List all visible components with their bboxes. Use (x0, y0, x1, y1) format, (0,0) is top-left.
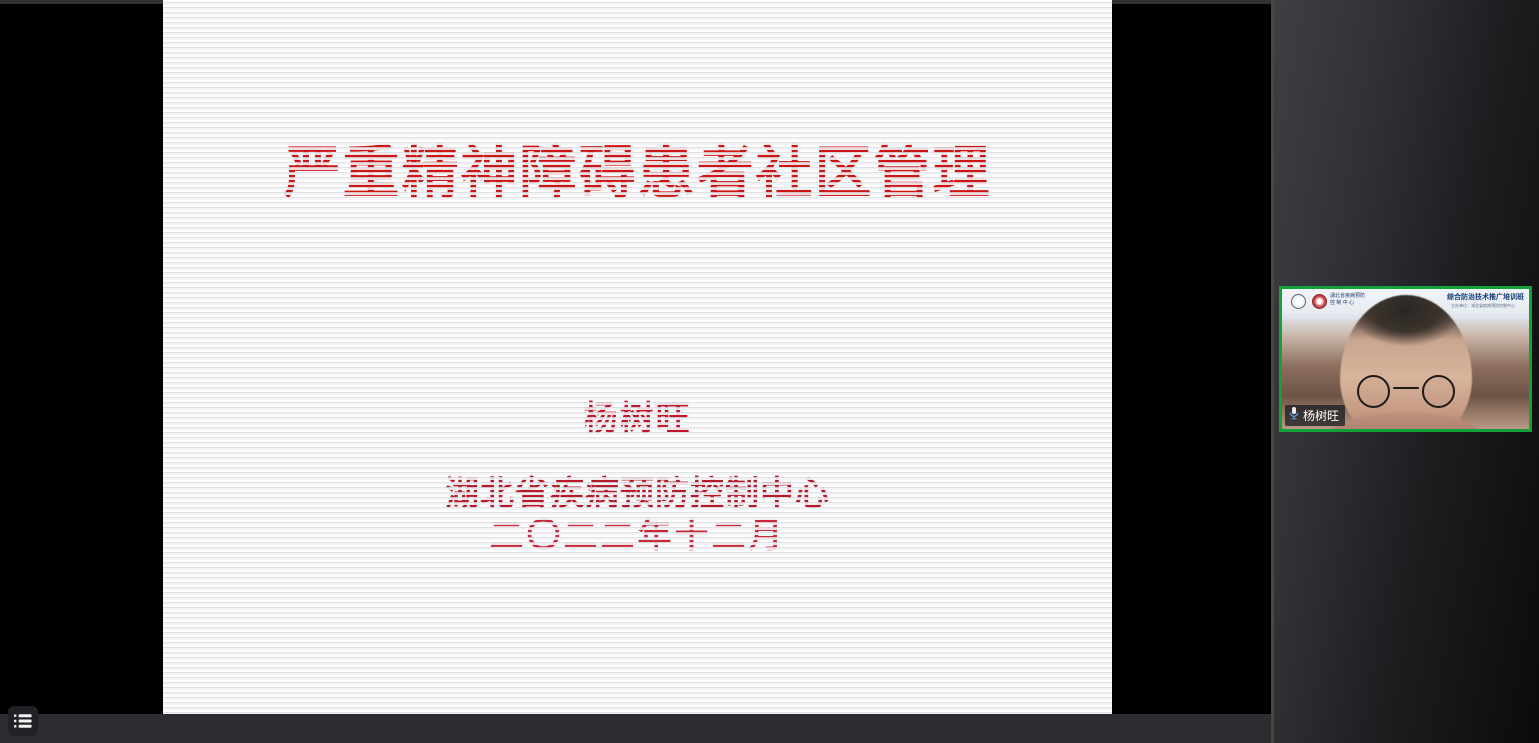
slide-organization: 湖北省疾病预防控制中心 (163, 472, 1112, 516)
banner-subtitle: 主办单位：湖北省疾病预防控制中心 (1451, 303, 1515, 309)
eyeglass-lens-left (1357, 375, 1390, 408)
emblem-icon-left (1291, 294, 1306, 309)
banner-title: 综合防治技术推广培训班 (1447, 292, 1524, 302)
participant-name-label: 杨树旺 (1303, 409, 1339, 423)
list-icon (14, 713, 32, 729)
slide-presenter-name: 杨树旺 (163, 396, 1112, 442)
emblem-icon-right (1312, 294, 1327, 309)
bottom-toolbar (0, 714, 1271, 743)
eyeglass-lens-right (1422, 375, 1455, 408)
slide-title: 严重精神障碍患者社区管理 (163, 137, 1112, 209)
agenda-list-toggle[interactable] (8, 706, 38, 736)
eyeglasses (1351, 375, 1461, 409)
speaker-shoulders (1330, 413, 1482, 429)
slide-date: 二〇二二年十二月 (163, 514, 1112, 558)
zoom-meeting-screen: 严重精神障碍患者社区管理 杨树旺 湖北省疾病预防控制中心 二〇二二年十二月 (0, 0, 1539, 743)
participant-name-badge: 杨树旺 (1285, 405, 1345, 426)
slide-content: 严重精神障碍患者社区管理 杨树旺 湖北省疾病预防控制中心 二〇二二年十二月 (163, 0, 1112, 714)
presentation-slide[interactable]: 严重精神障碍患者社区管理 杨树旺 湖北省疾病预防控制中心 二〇二二年十二月 (163, 0, 1112, 714)
banner-logo-caption: 湖北省疾病预防 控 制 中 心 (1330, 293, 1365, 307)
participant-video-tile[interactable]: 湖北省疾病预防 控 制 中 心 综合防治技术推广培训班 主办单位：湖北省疾病预防… (1279, 286, 1532, 432)
eyeglass-bridge (1393, 387, 1419, 389)
microphone-icon[interactable] (1288, 406, 1300, 425)
banner-logo-caption-line1: 湖北省疾病预防 (1330, 293, 1365, 300)
banner-logo-caption-line2: 控 制 中 心 (1330, 300, 1365, 307)
